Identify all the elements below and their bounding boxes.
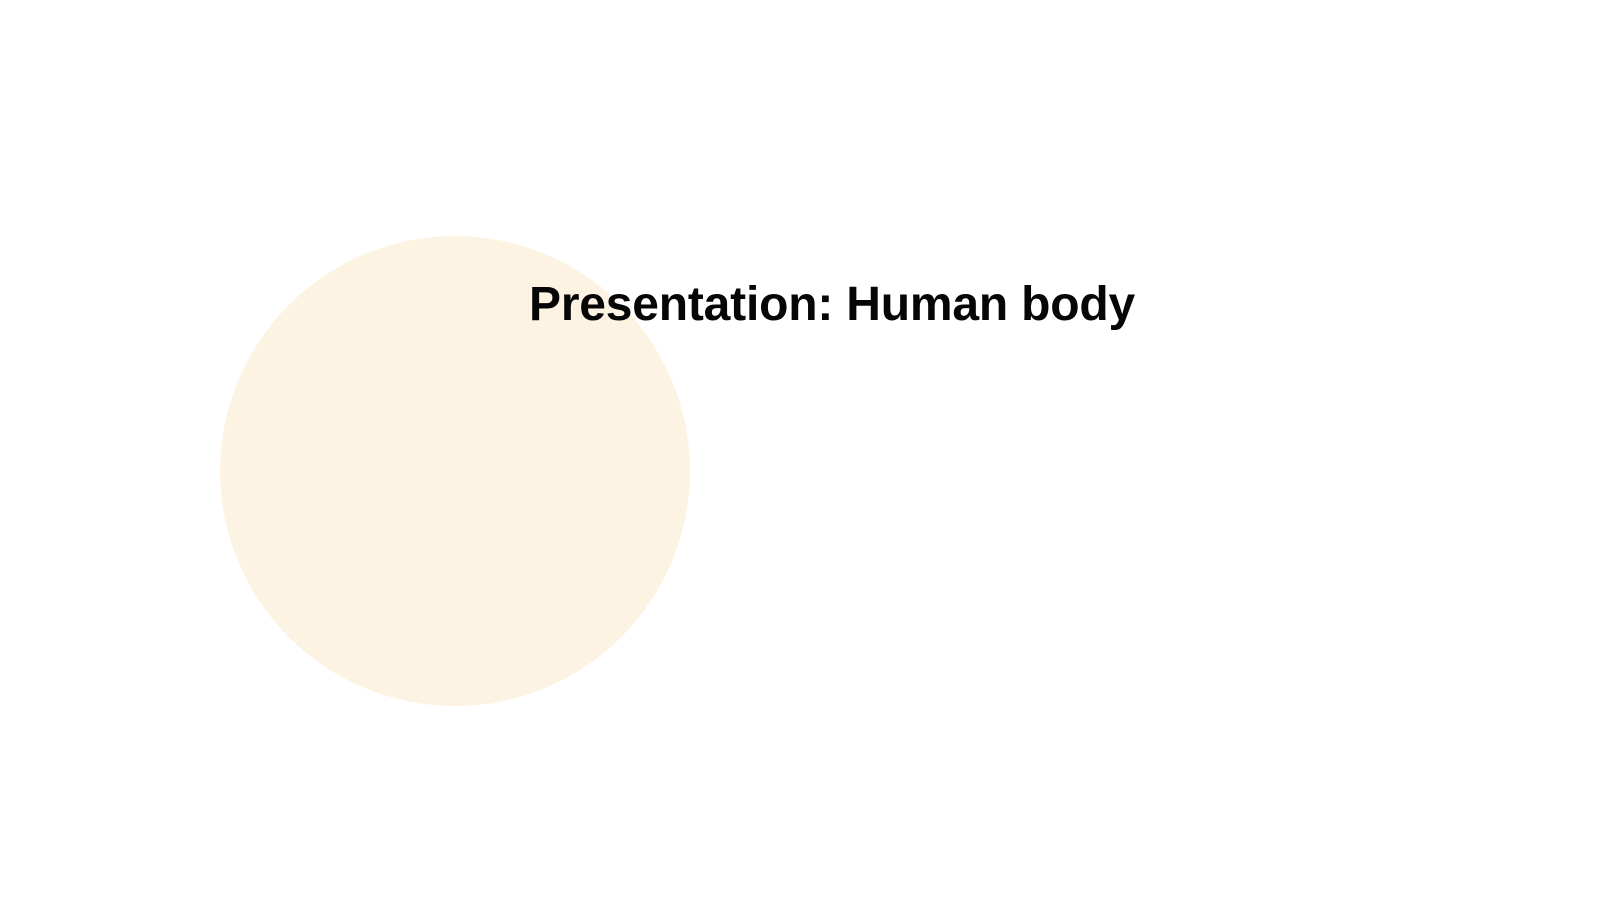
presentation-slide: Presentation: Human body	[0, 0, 1600, 900]
slide-title: Presentation: Human body	[529, 276, 1135, 334]
